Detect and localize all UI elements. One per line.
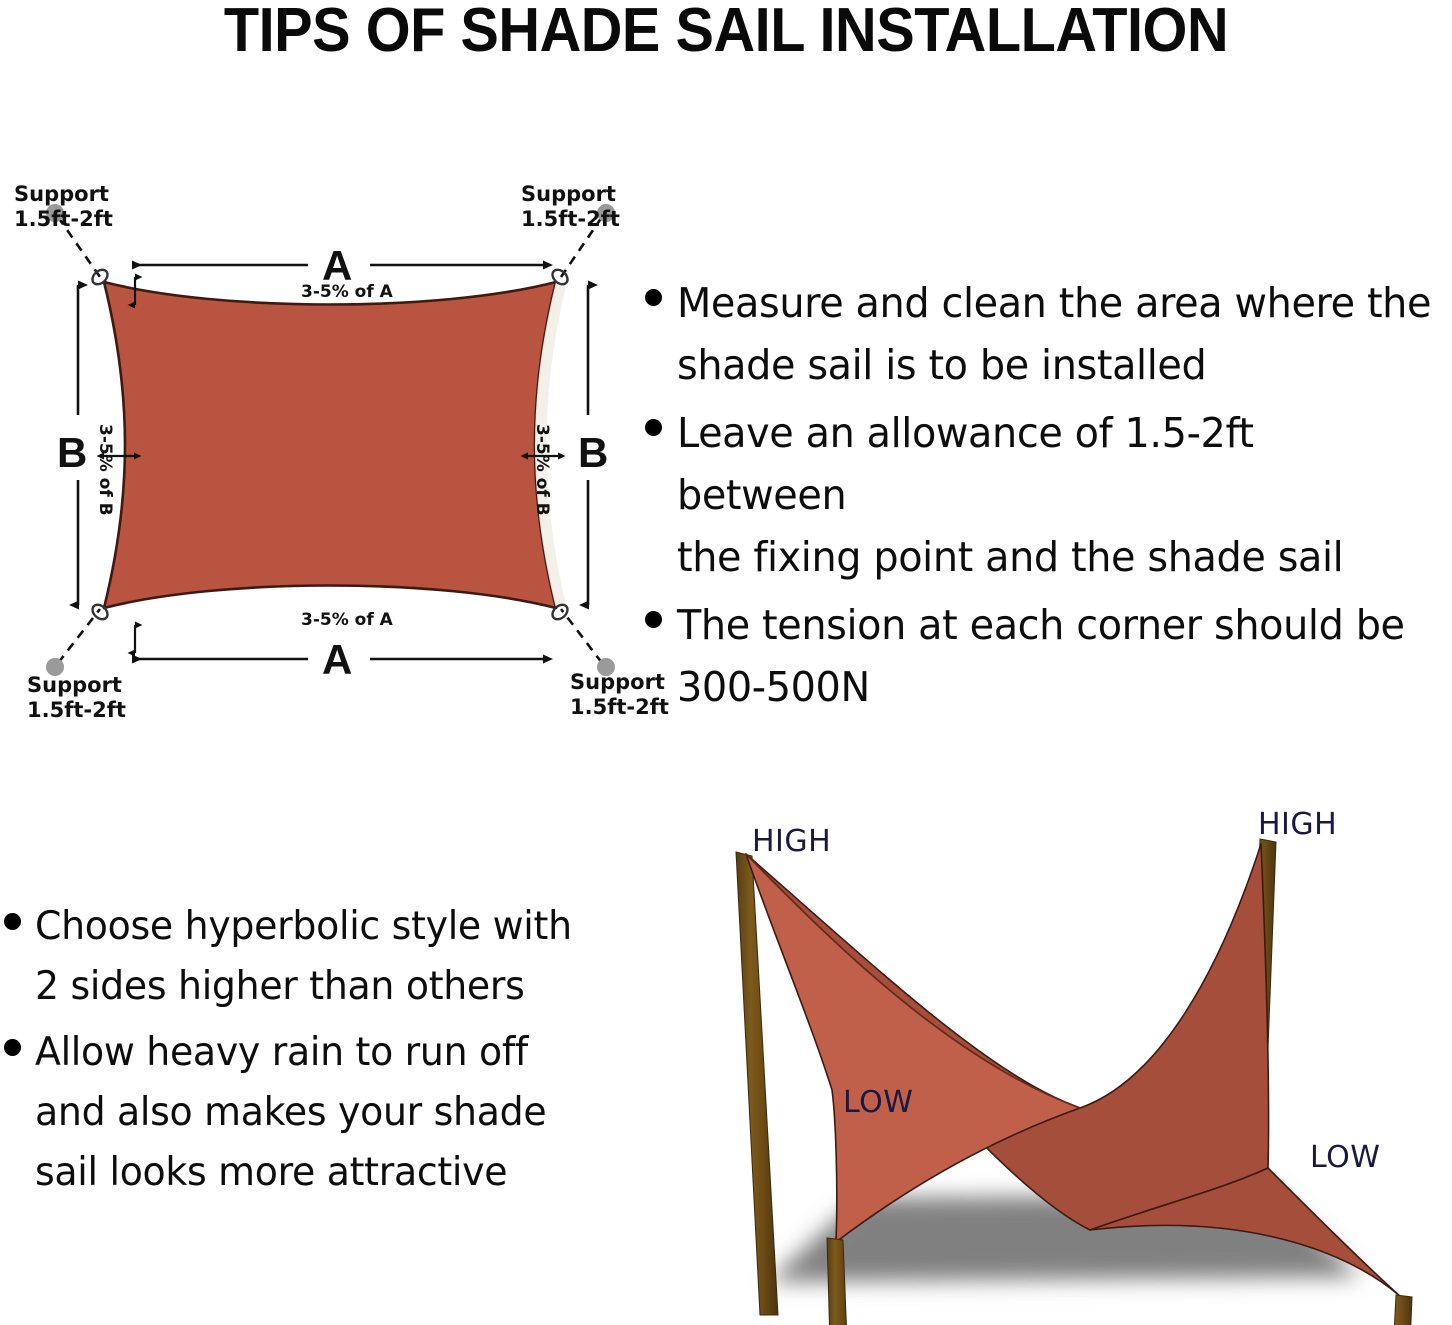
tip-text: Leave an allowance of 1.5-2ft between th… xyxy=(677,402,1432,588)
pole-label-front-left-low: LOW xyxy=(843,1088,913,1118)
bullet-dot-icon xyxy=(4,1039,21,1056)
list-item: Measure and clean the area where the sha… xyxy=(645,272,1452,396)
sag-note-top: 3-5% of A xyxy=(301,283,393,302)
tether-bottom-right xyxy=(561,609,602,663)
tip-line: The tension at each corner should be xyxy=(677,594,1432,656)
dimension-letter-top-A: A xyxy=(322,245,352,287)
dimension-letter-bottom-A: A xyxy=(322,639,352,681)
tip-line: Choose hyperbolic style with xyxy=(35,897,606,957)
tip-line: 2 sides higher than others xyxy=(35,957,606,1017)
tips-list-right: Measure and clean the area where the sha… xyxy=(645,272,1452,724)
sail-shape-fill xyxy=(104,282,556,608)
support-value-text: 1.5ft-2ft xyxy=(521,207,620,231)
sag-note-left: 3-5% of B xyxy=(95,424,114,516)
hyperbolic-sail-svg xyxy=(660,790,1452,1325)
tip-text: The tension at each corner should be 300… xyxy=(677,594,1432,718)
tip-line: Allow heavy rain to run off xyxy=(35,1023,606,1083)
infographic-page: TIPS OF SHADE SAIL INSTALLATION xyxy=(0,0,1452,1325)
sag-note-bottom: 3-5% of A xyxy=(301,611,393,630)
list-item: Choose hyperbolic style with 2 sides hig… xyxy=(4,897,624,1017)
support-label-top-left: Support 1.5ft-2ft xyxy=(14,182,113,232)
bullet-dot-icon xyxy=(645,289,662,306)
list-item: Allow heavy rain to run off and also mak… xyxy=(4,1023,624,1203)
tip-line: 300-500N xyxy=(677,656,1432,718)
dimension-letter-right-B: B xyxy=(578,432,608,474)
bullet-dot-icon xyxy=(645,611,662,628)
support-value-text: 1.5ft-2ft xyxy=(14,207,113,231)
tip-text: Allow heavy rain to run off and also mak… xyxy=(35,1023,606,1203)
support-label-text: Support xyxy=(27,673,122,697)
page-title: TIPS OF SHADE SAIL INSTALLATION xyxy=(51,0,1401,64)
tip-line: Measure and clean the area where the xyxy=(677,272,1432,334)
tips-list-left: Choose hyperbolic style with 2 sides hig… xyxy=(4,897,624,1209)
tip-text: Measure and clean the area where the sha… xyxy=(677,272,1432,396)
pole-label-front-right-low: LOW xyxy=(1310,1143,1380,1173)
list-item: The tension at each corner should be 300… xyxy=(645,594,1452,718)
bullet-dot-icon xyxy=(4,913,21,930)
tip-line: Leave an allowance of 1.5-2ft between xyxy=(677,402,1432,526)
support-label-text: Support xyxy=(521,182,616,206)
tip-text: Choose hyperbolic style with 2 sides hig… xyxy=(35,897,606,1017)
tether-bottom-left xyxy=(58,609,100,663)
pole-label-back-right-high: HIGH xyxy=(1258,810,1337,840)
tip-line: shade sail is to be installed xyxy=(677,334,1432,396)
support-label-bottom-left: Support 1.5ft-2ft xyxy=(27,673,126,723)
tip-line: the fixing point and the shade sail xyxy=(677,526,1432,588)
pole-front-right-low xyxy=(1386,1295,1412,1325)
support-label-top-right: Support 1.5ft-2ft xyxy=(521,182,620,232)
tip-line: and also makes your shade xyxy=(35,1083,606,1143)
bullet-dot-icon xyxy=(645,419,662,436)
support-value-text: 1.5ft-2ft xyxy=(27,698,126,722)
dimension-letter-left-B: B xyxy=(57,432,87,474)
pole-label-back-left-high: HIGH xyxy=(752,827,831,857)
tip-line: sail looks more attractive xyxy=(35,1143,606,1203)
list-item: Leave an allowance of 1.5-2ft between th… xyxy=(645,402,1452,588)
sag-note-right: 3-5% of B xyxy=(532,424,551,516)
support-label-text: Support xyxy=(14,182,109,206)
